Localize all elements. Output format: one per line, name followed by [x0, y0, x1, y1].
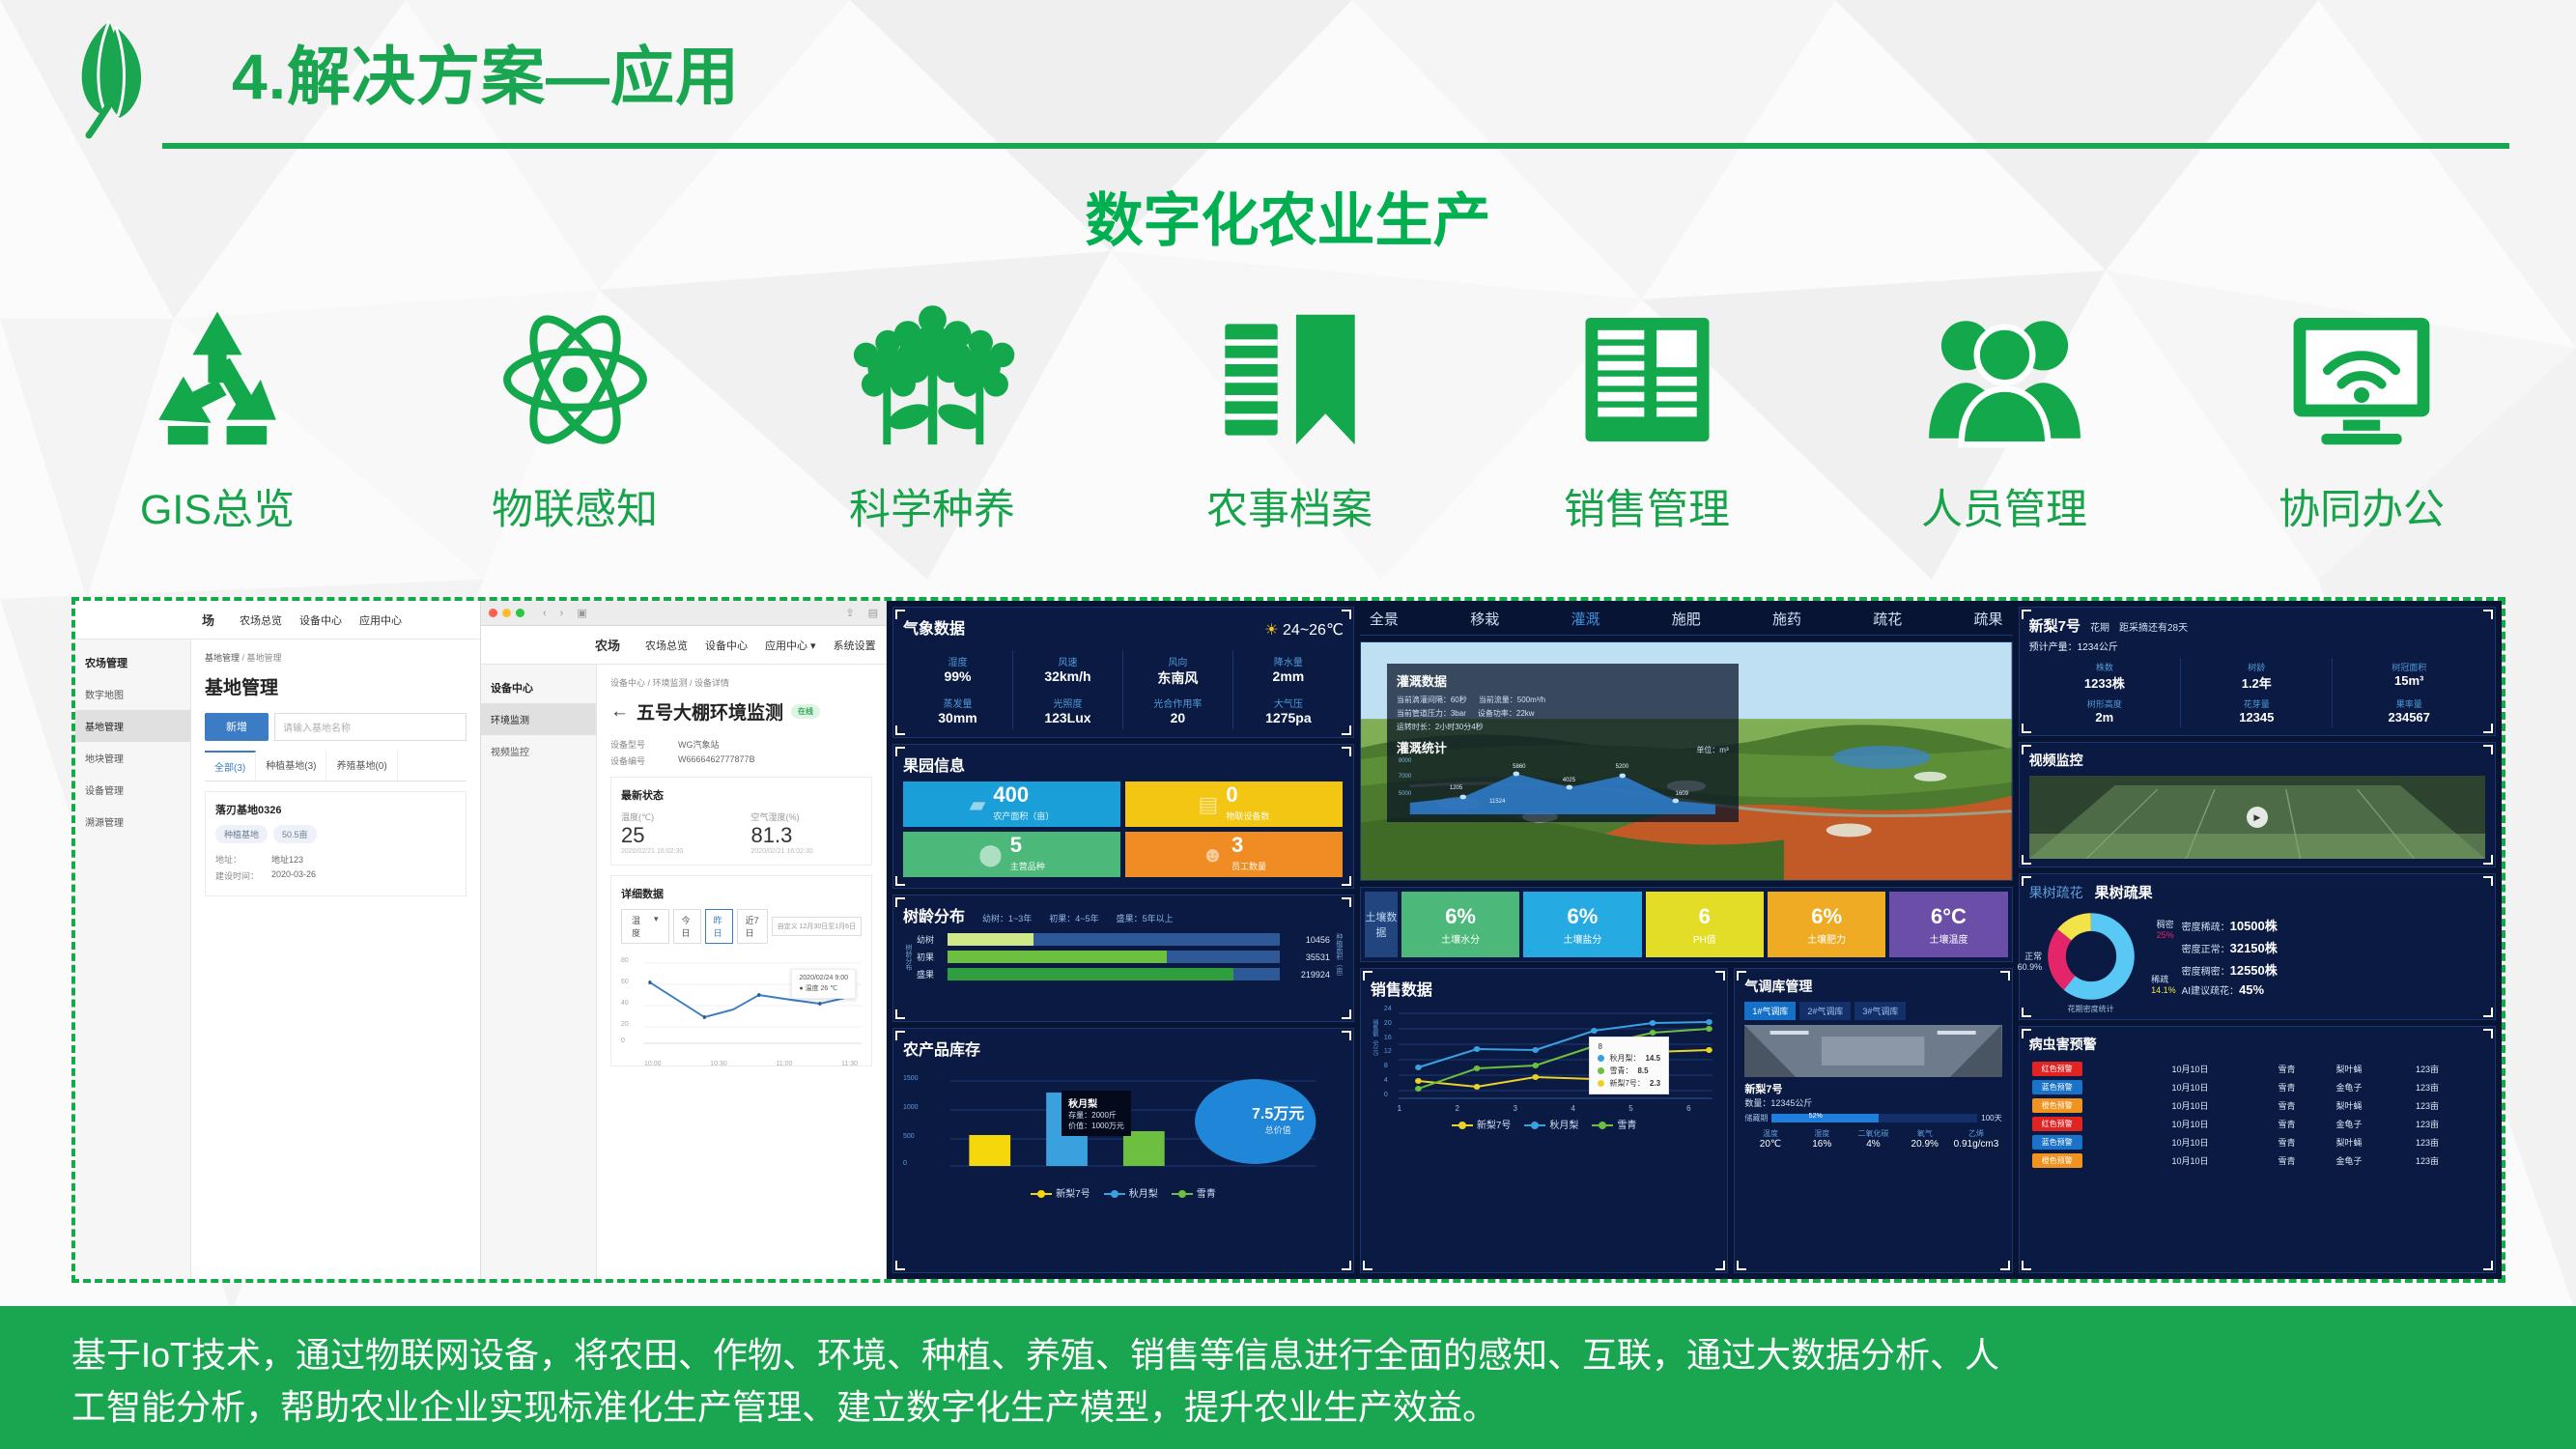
detail-chart-title: 详细数据: [621, 886, 862, 901]
tooltip-value: 26 ℃: [821, 985, 838, 992]
blossom-donut-chart: 正常 60.9% 稠密 25% 稀疏 14.1% 花期密度统计: [2029, 902, 2153, 1010]
video-monitor-panel: 视频监控 ▶: [2019, 742, 2496, 867]
back-arrow-icon[interactable]: ←: [610, 701, 629, 723]
sidebar-toggle-icon[interactable]: ▣: [577, 607, 586, 619]
irrigation-stat-title: 灌溉统计: [1397, 738, 1447, 756]
gas-metric: 乙烯0.91g/cm3: [1950, 1128, 2001, 1150]
slice-label-sparse: 稀疏 14.1%: [2151, 973, 2176, 995]
feature-label: 销售管理: [1564, 476, 1730, 536]
soil-data-panel: 土壤数据 6%土壤水分 6%土壤盐分 6PH值 6%土壤肥力 6°C土壤温度: [1360, 887, 2013, 962]
atom-icon: [491, 290, 660, 469]
feature-archive[interactable]: 农事档案: [1111, 290, 1468, 580]
tab-fertilize[interactable]: 施肥: [1672, 609, 1701, 629]
tabs-icon[interactable]: ▤: [868, 607, 878, 619]
weather-item: 蒸发量30mm: [903, 692, 1013, 729]
soil-temperature: 6°C土壤温度: [1889, 892, 2007, 957]
sidebar-item-env-monitor[interactable]: 环境监测: [481, 703, 596, 735]
weather-temp-range: ☀ 24~26℃: [1264, 620, 1344, 639]
metric-select-value: 温度: [632, 914, 640, 939]
soil-ph: 6PH值: [1646, 892, 1764, 957]
feature-label: 农事档案: [1206, 476, 1373, 536]
gas-tab-3[interactable]: 3#气调库: [1854, 1002, 1906, 1020]
nav-item[interactable]: 设备中心: [705, 638, 748, 653]
x-axis-tick: 11:30: [841, 1061, 858, 1067]
x-axis-tick: 10:00: [644, 1061, 662, 1067]
feature-label: 人员管理: [1921, 476, 2087, 536]
tree-age-row: 初果 35531: [917, 951, 1330, 963]
metric-timestamp: 2020/02/21 16:02:30: [751, 848, 863, 855]
legend-item: 雪青: [1592, 1117, 1636, 1131]
breadcrumb-current: 基地管理: [247, 653, 282, 663]
breadcrumb: 设备中心 / 环境监测 / 设备详情: [610, 676, 872, 689]
pest-table: 红色预警 10月10日雪青 梨叶蝇123亩 蓝色预警 10月10日雪青 金龟子1…: [2029, 1060, 2485, 1170]
mid-app-brand: 农场: [481, 636, 626, 654]
metric-value: 25: [621, 823, 732, 848]
sidebar-item-device-manage[interactable]: 设备管理: [75, 774, 190, 806]
orchard-tile-varieties[interactable]: ⬤ 5主营品种: [903, 832, 1120, 877]
subtitle: 数字化农业生产: [0, 174, 2576, 258]
gas-progress-total: 100天: [1981, 1113, 2001, 1123]
y-axis-tick: 0: [903, 1160, 907, 1167]
share-icon[interactable]: ⇪: [845, 607, 854, 619]
sidebar-item-plot-manage[interactable]: 地块管理: [75, 742, 190, 774]
tree-age-title: 树龄分布: [903, 903, 965, 926]
back-icon[interactable]: ‹: [543, 608, 547, 619]
slide-header: 4.解决方案—应用: [0, 0, 2576, 164]
slice-label-dense: 稠密 25%: [2157, 918, 2174, 940]
newspaper-icon: [1563, 290, 1732, 469]
video-player[interactable]: ▶: [2029, 776, 2485, 859]
y-axis-tick: 1500: [903, 1075, 919, 1082]
water-icon: ▰: [970, 792, 986, 817]
detail-chart-card: 详细数据 温度 ▾ 今日 昨日 近7日 自定义 12月30日至1月6日: [610, 875, 872, 1066]
fruit-icon: ⬤: [978, 842, 1003, 867]
latest-status-title: 最新状态: [621, 787, 862, 803]
tree-age-row: 幼树 10456: [917, 933, 1330, 946]
tab-thin-fruit[interactable]: 疏果: [1974, 609, 2003, 629]
table-row[interactable]: 红色预警 10月10日雪青 梨叶蝇123亩: [2029, 1060, 2485, 1078]
badge-type: 种植基地: [215, 825, 268, 843]
segment-yesterday[interactable]: 昨日: [705, 909, 733, 944]
y-axis-tick: 40: [621, 1000, 629, 1007]
soil-fertility: 6%土壤肥力: [1768, 892, 1885, 957]
orchard-tile-devices[interactable]: ▤ 0物联设备数: [1125, 781, 1343, 827]
gas-metric: 温度20℃: [1744, 1128, 1796, 1150]
field-label: 设备型号: [610, 738, 678, 751]
pest-warning-panel: 病虫害预警 红色预警 10月10日雪青 梨叶蝇123亩 蓝色预警 10月10日雪…: [2019, 1026, 2496, 1273]
tab-breeding[interactable]: 养殖基地(0): [326, 751, 397, 781]
metric-temperature: 温度(℃) 25 2020/02/21 16:02:30: [621, 810, 732, 855]
person-icon: ☻: [1202, 842, 1224, 867]
weather-item: 风速32km/h: [1013, 650, 1123, 692]
blossom-thinning-panel: 果树疏花 果树疏果 正常 60.9%: [2019, 873, 2496, 1020]
gas-metric: 氧气20.9%: [1899, 1128, 1950, 1150]
map-3d-view[interactable]: 灌溉数据 当前滴灌间隔：60秒当前流量：500m³/h 当前管道压力：3bar设…: [1360, 641, 2013, 881]
y-axis-tick: 4: [1384, 1077, 1392, 1084]
y-axis-tick: 0: [1384, 1092, 1392, 1098]
feature-iot[interactable]: 物联感知: [396, 290, 753, 580]
filter-tabs: 全部(3) 种植基地(3) 养殖基地(0): [205, 751, 467, 781]
tab-irrigation[interactable]: 灌溉: [1571, 609, 1599, 629]
tree-age-panel: 树龄分布 幼树：1~3年 初果：4~5年 盛果：5年以上 树龄分布 幼树 104…: [892, 895, 1354, 1022]
soil-salinity: 6%土壤盐分: [1523, 892, 1641, 957]
nav-item[interactable]: 系统设置: [834, 638, 876, 653]
dashboard-panel: 气象数据 ☀ 24~26℃ 湿度99% 风速32km/h 风向东南风 降水量2m…: [887, 601, 2502, 1279]
feature-office[interactable]: 协同办公: [2183, 290, 2540, 580]
x-axis-tick: 10:30: [710, 1061, 727, 1067]
tooltip-title: 8: [1598, 1042, 1660, 1051]
irrigation-unit: 单位：m³: [1696, 745, 1728, 755]
sales-panel: 销售数据: [1360, 968, 1728, 1273]
gas-progress-bar: 52%: [1771, 1114, 1977, 1122]
status-badge: 橙色预警: [2032, 1098, 2082, 1113]
blossom-stats: 密度稀疏：10500株 密度正常：32150株 密度稠密：12550株 AI建议…: [2182, 912, 2278, 1001]
table-row[interactable]: 橙色预警 10月10日雪青 梨叶蝇123亩: [2029, 1096, 2485, 1115]
tab-thin-flower[interactable]: 果树疏花: [2029, 883, 2083, 902]
field-value: W6666462777877B: [678, 754, 755, 767]
legend-item: 秋月梨: [1104, 1185, 1158, 1200]
tree-stage: 花期: [2090, 619, 2109, 634]
gas-period-label: 储藏期: [1744, 1113, 1768, 1123]
gas-metric: 二氧化碳4%: [1848, 1128, 1899, 1150]
breadcrumb-parent[interactable]: 基地管理: [205, 653, 240, 663]
tree-info-panel: 新梨7号 花期 距采摘还有28天 预计产量：1234公斤 株数1233株 树龄1…: [2019, 607, 2496, 736]
y-axis-tick: 1000: [903, 1104, 919, 1111]
y-axis-tick: 20: [1384, 1020, 1392, 1027]
feature-icon-row: GIS总览 物联感知: [39, 290, 2540, 580]
people-icon: [1915, 290, 2094, 469]
temperature-line-chart: 80 60 40 20 0 2020/02/24 9:00 ● 温度 26 ℃ …: [621, 952, 862, 1056]
sales-title: 销售数据: [1371, 977, 1717, 1000]
stat-row: 密度正常：32150株: [2182, 938, 2278, 956]
status-badge: 在线: [791, 704, 820, 719]
y-axis-tick: 500: [903, 1133, 915, 1140]
gas-metric: 湿度16%: [1797, 1128, 1848, 1150]
left-app-window: 场 农场总览 设备中心 应用中心 农场管理 数字地图 基地管理 地块管理 设备管…: [75, 601, 481, 1279]
video-title: 视频监控: [2029, 751, 2485, 770]
tooltip-time: 2020/02/24 9:00: [799, 975, 848, 981]
gas-storage-panel: 气调库管理 1#气调库 2#气调库 3#气调库: [1734, 968, 2012, 1273]
weather-item: 光照度123Lux: [1013, 692, 1123, 729]
tab-planting[interactable]: 种植基地(3): [256, 751, 326, 781]
y-axis-tick: 16: [1384, 1035, 1392, 1041]
footer-line-1: 基于IoT技术，通过物联网设备，将农田、作物、环境、种植、养殖、销售等信息进行全…: [71, 1329, 2505, 1381]
y-axis-tick: 0: [621, 1037, 625, 1044]
date-range-picker[interactable]: 自定义 12月30日至1月6日: [772, 917, 862, 936]
metric-label: 空气湿度(%): [751, 810, 863, 823]
legend-item: 秋月梨: [1524, 1117, 1578, 1131]
status-badge: 蓝色预警: [2032, 1135, 2082, 1150]
badge-area: 50.5亩: [273, 825, 317, 843]
base-card-title: 落刃基地0326: [215, 802, 456, 817]
sidebar-item-video-monitor[interactable]: 视频监控: [481, 735, 596, 767]
field-label: 地址：: [215, 853, 271, 866]
tab-thin-flower[interactable]: 疏花: [1873, 609, 1902, 629]
footer-line-2: 工智能分析，帮助农业企业实现标准化生产管理、建立数字化生产模型，提升农业生产效益…: [71, 1381, 2505, 1434]
activity-tabs[interactable]: 全景 移栽 灌溉 施肥 施药 疏花 疏果: [1360, 607, 2013, 636]
metric-humidity: 空气湿度(%) 81.3 2020/02/21 16:02:30: [751, 810, 863, 855]
nav-item[interactable]: 设备中心: [299, 612, 342, 628]
device-title-row: ← 五号大棚环境监测 在线: [610, 698, 872, 724]
r-axis-label: 种植面积（亩）: [1334, 933, 1344, 980]
search-input[interactable]: 请输入基地名称: [274, 713, 467, 741]
weather-item: 大气压1275pa: [1233, 692, 1344, 729]
title-divider: [162, 143, 2509, 149]
status-badge: 橙色预警: [2032, 1153, 2082, 1168]
field-label: 建设时间：: [215, 869, 271, 882]
nav-item[interactable]: 应用中心 ▾: [765, 638, 816, 653]
metric-value: 81.3: [751, 823, 863, 848]
mid-app-nav[interactable]: 农场总览 设备中心 应用中心 ▾ 系统设置: [645, 638, 876, 653]
breadcrumb: 基地管理 / 基地管理: [205, 651, 467, 664]
tab-transplant[interactable]: 移栽: [1470, 609, 1499, 629]
chart-tooltip: 2020/02/24 9:00 ● 温度 26 ℃: [791, 969, 856, 999]
field-value: WG汽象站: [678, 738, 720, 751]
sidebar-item-digital-map[interactable]: 数字地图: [75, 678, 190, 710]
y-axis-tick: 8: [1384, 1063, 1392, 1069]
tab-pesticide[interactable]: 施药: [1772, 609, 1801, 629]
tree-variety: 新梨7号: [2029, 615, 2081, 636]
recycle-icon: [135, 290, 299, 469]
tree-metric: 花芽量12345: [2181, 695, 2333, 727]
nav-item[interactable]: 农场总览: [645, 638, 688, 653]
left-app-topbar: 场 农场总览 设备中心 应用中心: [75, 601, 480, 639]
weather-item: 降水量2mm: [1233, 650, 1344, 692]
mid-app-topbar: 农场 农场总览 设备中心 应用中心 ▾ 系统设置: [481, 626, 886, 665]
y-axis-tick: 20: [621, 1021, 629, 1028]
tooltip-series: 温度: [806, 985, 819, 992]
legend-item: 盛果：5年以上: [1117, 912, 1174, 924]
play-icon[interactable]: ▶: [2247, 807, 2268, 828]
feature-gis[interactable]: GIS总览: [39, 290, 396, 580]
device-title: 五号大棚环境监测: [637, 698, 783, 724]
sales-tooltip: 8 秋月梨：14.5 雪青：8.5 新梨7号：2.3: [1589, 1037, 1669, 1094]
status-badge: 蓝色预警: [2032, 1080, 2082, 1094]
orchard-info-panel: 果园信息 ▰ 400农产面积（亩） ▤ 0物联设备数 ⬤ 5主营品种: [892, 744, 1354, 889]
gas-tab-2[interactable]: 2#气调库: [1799, 1002, 1851, 1020]
sidebar-title: 设备中心: [481, 672, 596, 703]
stat-row: AI建议疏花：45%: [2182, 982, 2278, 997]
sales-line-chart: 24 20 16 12 8 4 0 销售额（万元） 8 秋月梨：14.5: [1371, 1006, 1717, 1110]
flowers-icon: [843, 290, 1022, 469]
weather-item: 湿度99%: [903, 650, 1013, 692]
footer-description: 基于IoT技术，通过物联网设备，将农田、作物、环境、种植、养殖、销售等信息进行全…: [71, 1329, 2505, 1434]
inventory-legend: 新梨7号 秋月梨 雪青: [903, 1185, 1344, 1200]
browser-chrome: ‹ › ▣ ⇪ ▤: [481, 601, 886, 626]
inventory-total-bubble: 7.5万元 总价值: [1234, 1100, 1321, 1136]
device-icon: ▤: [1199, 792, 1219, 817]
legend-item: 新梨7号: [1452, 1117, 1512, 1131]
nav-item[interactable]: 应用中心: [359, 612, 402, 628]
leaf-logo-icon: [56, 14, 172, 139]
weather-item: 风向东南风: [1123, 650, 1233, 692]
table-row[interactable]: 蓝色预警 10月10日雪青 金龟子123亩: [2029, 1078, 2485, 1096]
tree-metric: 树龄1.2年: [2181, 658, 2333, 695]
y-axis-tick: 80: [621, 957, 629, 964]
window-close-button[interactable]: [489, 609, 497, 617]
nav-item[interactable]: 农场总览: [240, 612, 282, 628]
status-badge: 红色预警: [2032, 1117, 2082, 1131]
metric-label: 温度(℃): [621, 810, 732, 823]
y-axis-label: 销售额（万元）: [1371, 1019, 1379, 1060]
metric-select[interactable]: 温度 ▾: [621, 909, 669, 944]
tree-age-row: 盛果 219924: [917, 968, 1330, 980]
orchard-title: 果园信息: [903, 753, 1344, 776]
gas-title: 气调库管理: [1744, 977, 2001, 996]
tree-yield: 预计产量：1234公斤: [2029, 639, 2485, 653]
feature-planting[interactable]: 科学种养: [753, 290, 1111, 580]
feature-label: 协同办公: [2279, 476, 2445, 536]
legend-item: 雪青: [1172, 1185, 1216, 1200]
feature-label: 物联感知: [492, 476, 658, 536]
archive-icon: [1205, 290, 1374, 469]
feature-label: GIS总览: [140, 476, 295, 536]
field-value: 2020-03-26: [271, 869, 316, 882]
sidebar-title: 农场管理: [75, 647, 190, 678]
tree-metric: 树冠面积15m³: [2333, 658, 2484, 695]
stat-row: 密度稀疏：10500株: [2182, 916, 2278, 934]
tree-metric: 树形高度2m: [2029, 695, 2181, 727]
tree-metric: 果率量234567: [2333, 695, 2484, 727]
sidebar-item-trace-manage[interactable]: 溯源管理: [75, 806, 190, 838]
feature-staff[interactable]: 人员管理: [1826, 290, 2183, 580]
orchard-tile-staff[interactable]: ☻ 3员工数量: [1125, 832, 1343, 877]
tab-thin-fruit[interactable]: 果树疏果: [2095, 882, 2153, 902]
x-axis-tick: 11:00: [776, 1061, 792, 1067]
left-app-sidebar: 农场管理 数字地图 基地管理 地块管理 设备管理 溯源管理: [75, 639, 191, 1279]
sidebar-item-base-manage[interactable]: 基地管理: [75, 710, 190, 742]
weather-item: 光合作用率20: [1123, 692, 1233, 729]
section-title: 基地管理: [205, 673, 467, 699]
gas-tab-1[interactable]: 1#气调库: [1744, 1002, 1796, 1020]
feature-sales[interactable]: 销售管理: [1468, 290, 1826, 580]
tree-countdown: 距采摘还有28天: [2119, 619, 2188, 634]
segment-last7[interactable]: 近7日: [737, 909, 768, 944]
stat-row: 密度稠密：12550株: [2182, 960, 2278, 979]
donut-caption: 花期密度统计: [2029, 1004, 2153, 1014]
soil-label: 土壤数据: [1365, 892, 1398, 957]
tab-all[interactable]: 全部(3): [205, 751, 256, 781]
weather-title: 气象数据: [903, 615, 965, 639]
orchard-tile-area[interactable]: ▰ 400农产面积（亩）: [903, 781, 1120, 827]
window-minimize-button[interactable]: [502, 609, 511, 617]
slice-label-normal: 正常 60.9%: [2018, 950, 2043, 972]
table-row[interactable]: 蓝色预警 10月10日雪青 梨叶蝇123亩: [2029, 1133, 2485, 1151]
inventory-title: 农产品库存: [903, 1037, 1344, 1060]
inventory-panel: 农产品库存 1500 1000 500 0 秋月梨: [892, 1028, 1354, 1273]
mid-app-sidebar: 设备中心 环境监测 视频监控: [481, 665, 597, 1279]
tree-metric: 株数1233株: [2029, 658, 2181, 695]
latest-status-card: 最新状态 温度(℃) 25 2020/02/21 16:02:30 空气湿度(%…: [610, 777, 872, 866]
left-app-nav[interactable]: 农场总览 设备中心 应用中心: [240, 612, 402, 628]
y-axis-tick: 24: [1384, 1006, 1392, 1012]
middle-browser-window: ‹ › ▣ ⇪ ▤ 农场 农场总览 设备中心 应用中心 ▾ 系统设置 设备中心 …: [481, 601, 887, 1279]
y-axis-label: 树龄分布: [903, 944, 913, 971]
product-screenshot-strip: 场 农场总览 设备中心 应用中心 农场管理 数字地图 基地管理 地块管理 设备管…: [71, 597, 2505, 1283]
left-app-main: 基地管理 / 基地管理 基地管理 新增 请输入基地名称 全部(3) 种植基地(3…: [191, 639, 480, 1279]
irrigation-overlay: 灌溉数据 当前滴灌间隔：60秒当前流量：500m³/h 当前管道压力：3bar设…: [1387, 664, 1739, 822]
page-title: 4.解决方案—应用: [232, 25, 740, 118]
inventory-tooltip: 秋月梨 存量：2000斤 价值：1000万元: [1062, 1091, 1131, 1136]
table-row[interactable]: 红色预警 10月10日雪青 金龟子123亩: [2029, 1115, 2485, 1133]
field-value: 地址123: [271, 853, 303, 866]
segment-today[interactable]: 今日: [673, 909, 701, 944]
sun-icon: ☀: [1264, 622, 1278, 639]
add-button[interactable]: 新增: [205, 713, 269, 741]
y-axis-tick: 60: [621, 979, 629, 985]
status-badge: 红色预警: [2032, 1062, 2082, 1076]
weather-panel: 气象数据 ☀ 24~26℃ 湿度99% 风速32km/h 风向东南风 降水量2m…: [892, 607, 1354, 738]
field-label: 设备编号: [610, 754, 678, 767]
legend-item: 幼树：1~3年: [982, 912, 1032, 924]
window-maximize-button[interactable]: [516, 609, 524, 617]
left-app-brand: 场: [75, 611, 220, 629]
legend-item: 新梨7号: [1031, 1185, 1090, 1200]
tab-panorama[interactable]: 全景: [1370, 609, 1399, 629]
feature-label: 科学种养: [849, 476, 1015, 536]
sales-legend: 新梨7号 秋月梨 雪青: [1371, 1117, 1717, 1131]
legend-item: 初果：4~5年: [1049, 912, 1098, 924]
y-axis-tick: 12: [1384, 1048, 1392, 1055]
base-card[interactable]: 落刃基地0326 种植基地 50.5亩 地址：地址123 建设时间：2020-0…: [205, 791, 467, 896]
irrigation-title: 灌溉数据: [1397, 671, 1729, 690]
wifi-monitor-icon: [2275, 290, 2449, 469]
pest-title: 病虫害预警: [2029, 1035, 2485, 1054]
table-row[interactable]: 橙色预警 10月10日雪青 金龟子123亩: [2029, 1151, 2485, 1170]
gas-item-title: 新梨7号: [1744, 1081, 2001, 1096]
metric-timestamp: 2020/02/21 16:02:30: [621, 848, 732, 855]
soil-moisture: 6%土壤水分: [1401, 892, 1519, 957]
forward-icon[interactable]: ›: [560, 608, 564, 619]
gas-storage-photo: [1744, 1025, 2001, 1077]
chevron-down-icon: ▾: [654, 914, 659, 939]
gas-qty: 数量：12345公斤: [1744, 1096, 2001, 1109]
mid-app-main: 设备中心 / 环境监测 / 设备详情 ← 五号大棚环境监测 在线 设备型号WG汽…: [597, 665, 886, 1279]
